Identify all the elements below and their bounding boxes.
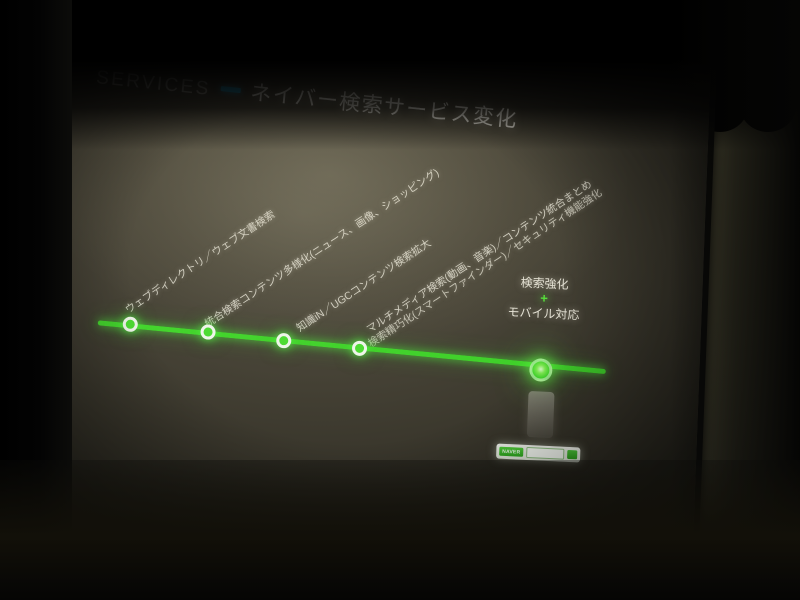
timeline-node-1[interactable]	[123, 316, 139, 332]
timeline-node-5-current[interactable]	[529, 358, 553, 382]
timeline-node-2[interactable]	[200, 324, 216, 340]
foreground-shadow	[0, 460, 800, 600]
search-icon[interactable]	[567, 450, 577, 459]
search-input[interactable]	[526, 447, 564, 460]
naver-logo: NAVER	[499, 447, 523, 457]
photo-canvas: SERVICES ネイバー検索サービス変化 ウェブディレクトリ／ウェブ文書検索 …	[0, 0, 800, 600]
callout-block: 検索強化 + モバイル対応	[483, 273, 605, 325]
timeline-node-3[interactable]	[276, 333, 292, 349]
timeline-node-4[interactable]	[352, 340, 368, 356]
smartphone-mock	[527, 391, 555, 438]
